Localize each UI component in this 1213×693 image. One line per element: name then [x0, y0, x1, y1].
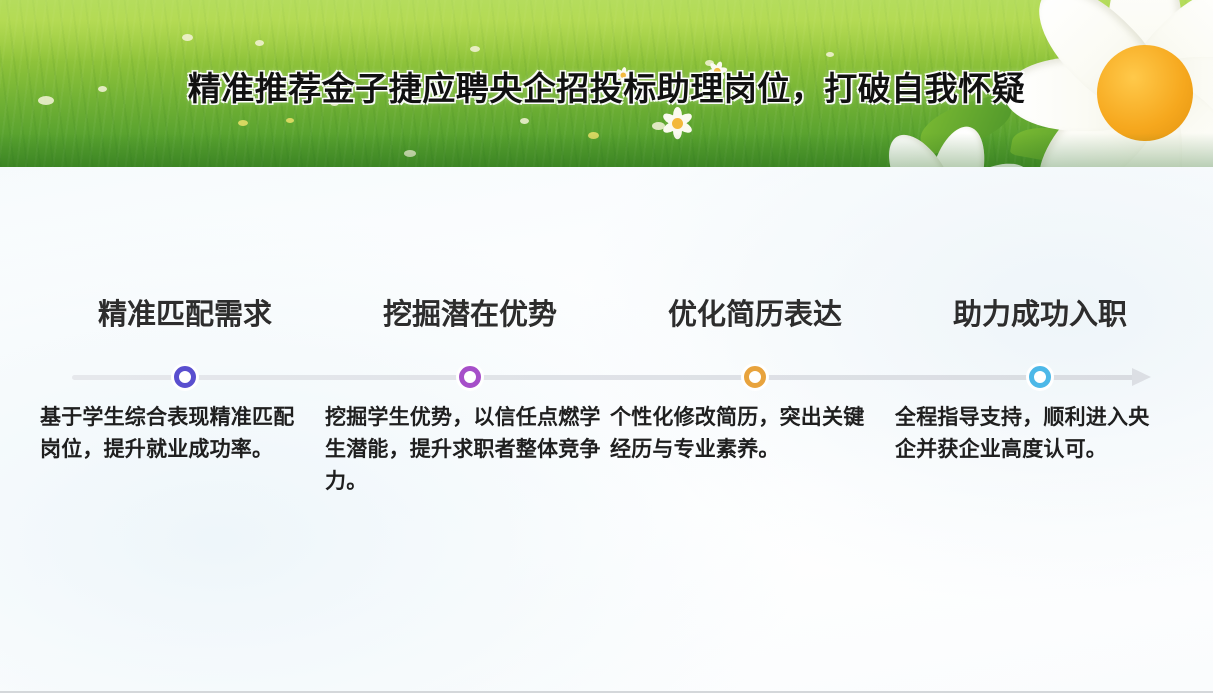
step-marker-4[interactable]: [1026, 363, 1054, 391]
timeline-arrow-icon: [1132, 368, 1151, 386]
step-title: 挖掘潜在优势: [325, 300, 615, 332]
flower-speck: [286, 118, 294, 123]
marker-ring-icon: [459, 366, 481, 388]
step-description: 个性化修改简历，突出关键经历与专业素养。: [610, 402, 878, 466]
step-title: 精准匹配需求: [40, 300, 330, 332]
timeline-step-4[interactable]: 助力成功入职 全程指导支持，顺利进入央企并获企业高度认可。: [895, 300, 1185, 332]
step-description: 挖掘学生优势，以信任点燃学生潜能，提升求职者整体竞争力。: [325, 402, 605, 498]
step-marker-2[interactable]: [456, 363, 484, 391]
step-marker-1[interactable]: [171, 363, 199, 391]
marker-ring-icon: [1029, 366, 1051, 388]
flower-speck: [238, 120, 248, 126]
flower-speck: [826, 52, 834, 57]
step-title: 优化简历表达: [610, 300, 900, 332]
presentation-slide: 精准推荐金子捷应聘央企招投标助理岗位，打破自我怀疑 精准匹配需求 基于学生综合表…: [0, 0, 1213, 693]
step-description: 基于学生综合表现精准匹配岗位，提升就业成功率。: [40, 402, 305, 466]
timeline-step-1[interactable]: 精准匹配需求 基于学生综合表现精准匹配岗位，提升就业成功率。: [40, 300, 330, 332]
marker-ring-icon: [744, 366, 766, 388]
step-title: 助力成功入职: [895, 300, 1185, 332]
page-title: 精准推荐金子捷应聘央企招投标助理岗位，打破自我怀疑: [0, 62, 1213, 110]
flower-speck: [520, 118, 529, 124]
flower-speck: [470, 46, 480, 52]
flower-speck: [182, 34, 193, 41]
step-marker-3[interactable]: [741, 363, 769, 391]
header-banner: 精准推荐金子捷应聘央企招投标助理岗位，打破自我怀疑: [0, 0, 1213, 167]
flower-speck: [255, 40, 264, 46]
step-description: 全程指导支持，顺利进入央企并获企业高度认可。: [895, 402, 1155, 466]
banner-bottom-shade: [0, 133, 1213, 167]
timeline-axis: [72, 375, 1135, 380]
timeline: 精准匹配需求 基于学生综合表现精准匹配岗位，提升就业成功率。 挖掘潜在优势 挖掘…: [0, 300, 1213, 580]
timeline-step-3[interactable]: 优化简历表达 个性化修改简历，突出关键经历与专业素养。: [610, 300, 900, 332]
timeline-step-2[interactable]: 挖掘潜在优势 挖掘学生优势，以信任点燃学生潜能，提升求职者整体竞争力。: [325, 300, 615, 332]
marker-ring-icon: [174, 366, 196, 388]
